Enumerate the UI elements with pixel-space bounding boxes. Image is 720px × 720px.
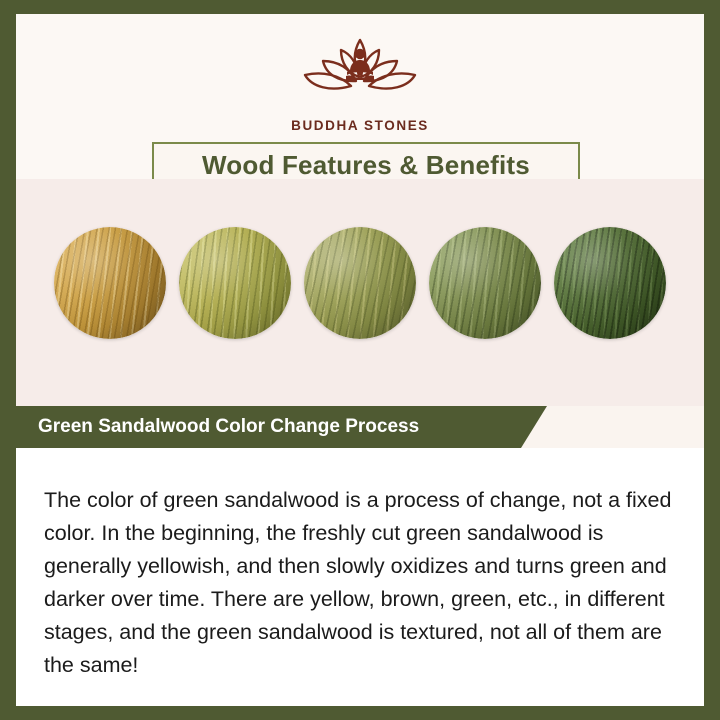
brand-logo: BUDDHA STONES (16, 30, 704, 133)
description-block: The color of green sandalwood is a proce… (16, 448, 704, 706)
bead-item (554, 227, 666, 339)
poster-root: BUDDHA STONES Wood Features & Benefits (0, 0, 720, 720)
bead-shading (179, 227, 291, 339)
bead-shading (429, 227, 541, 339)
frame-left-border (0, 0, 16, 720)
bead-row (16, 227, 704, 339)
section-label-bar: Green Sandalwood Color Change Process (16, 406, 704, 448)
frame-bottom-border (0, 706, 720, 720)
bead-shading (54, 227, 166, 339)
poster-header: BUDDHA STONES Wood Features & Benefits (16, 14, 704, 179)
bead-item (54, 227, 166, 339)
frame-top-border (0, 0, 720, 14)
page-title: Wood Features & Benefits (202, 150, 530, 181)
poster-card: BUDDHA STONES Wood Features & Benefits (16, 14, 704, 706)
brand-name: BUDDHA STONES (16, 118, 704, 133)
bead-shading (304, 227, 416, 339)
bead-item (304, 227, 416, 339)
bead-shading (554, 227, 666, 339)
description-paragraph: The color of green sandalwood is a proce… (44, 484, 678, 682)
bead-item (429, 227, 541, 339)
bead-showcase (16, 179, 704, 406)
section-label: Green Sandalwood Color Change Process (38, 406, 419, 448)
frame-right-border (704, 0, 720, 720)
section-label-tail (521, 406, 547, 448)
bead-item (179, 227, 291, 339)
lotus-buddha-icon (285, 30, 435, 116)
